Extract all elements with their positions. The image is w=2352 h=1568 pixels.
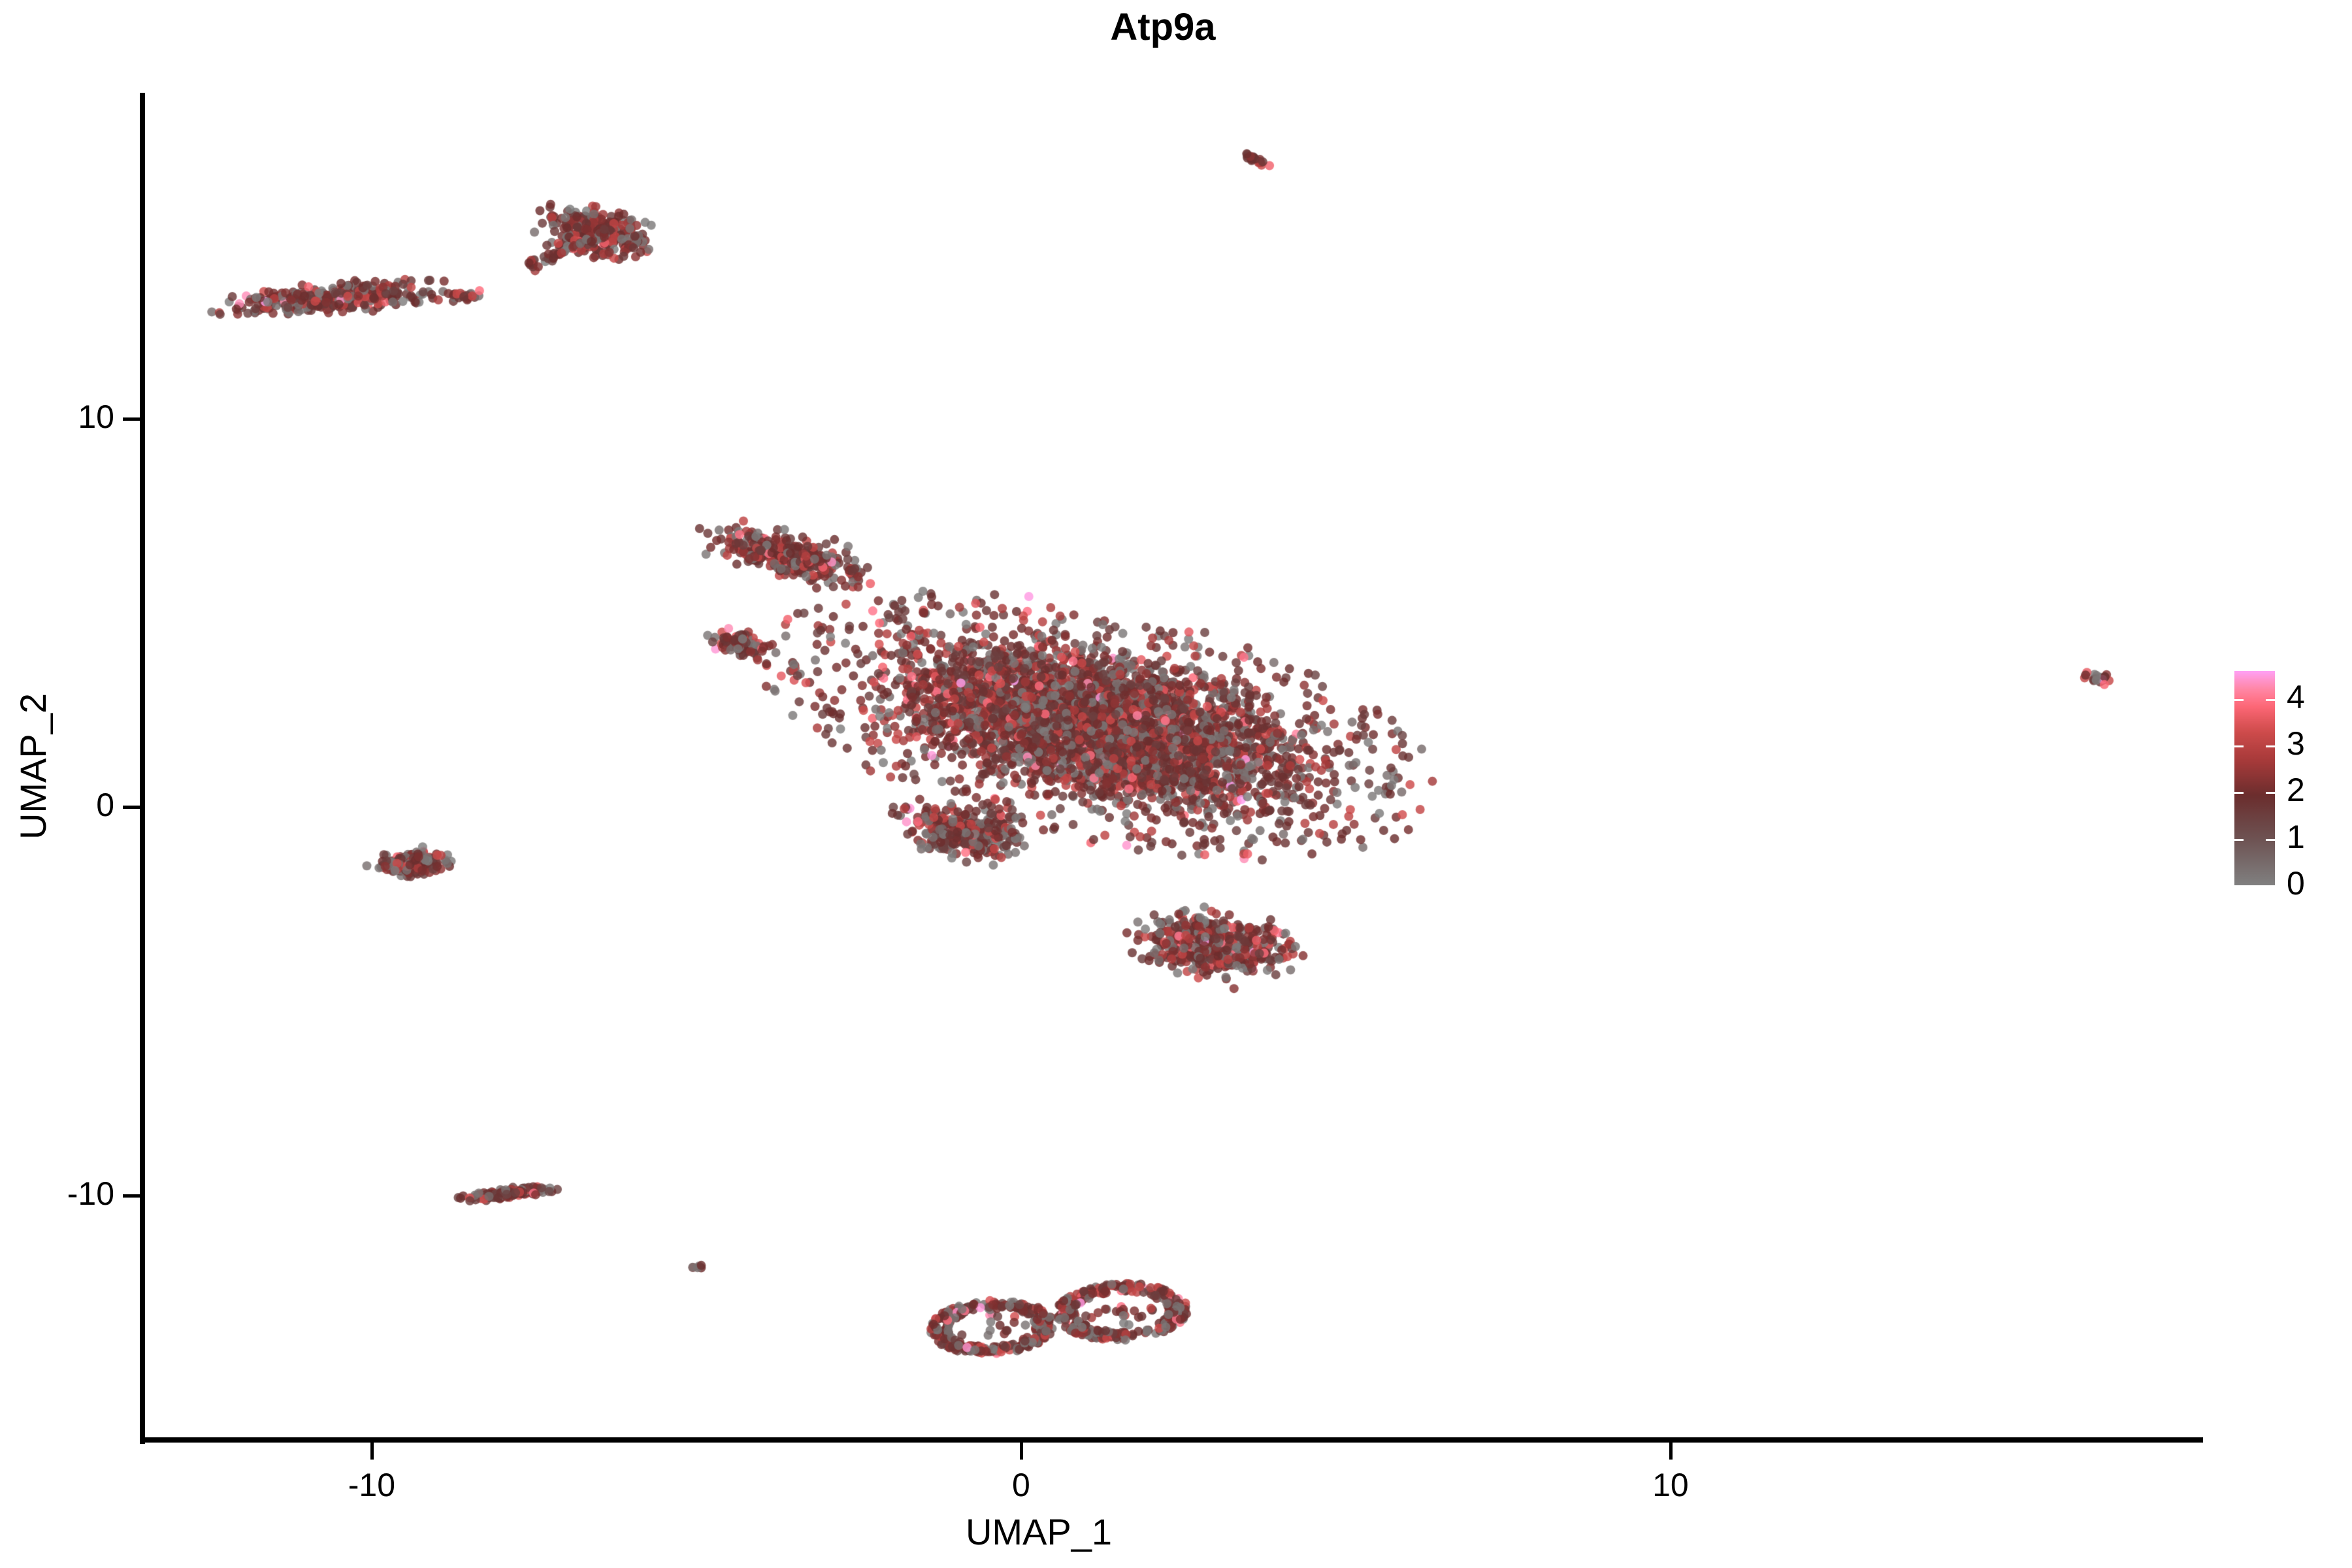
- y-axis-line: [140, 93, 145, 1444]
- y-tick-10: [123, 417, 140, 421]
- colorbar-label-4: 4: [2287, 681, 2305, 713]
- y-tick--10: [123, 1194, 140, 1198]
- scatter-canvas: [144, 93, 2203, 1440]
- x-tick--10: [370, 1443, 374, 1460]
- y-tick-label--10: -10: [0, 1175, 114, 1213]
- y-tick-0: [123, 806, 140, 809]
- y-tick-label-10: 10: [0, 398, 114, 436]
- x-tick-0: [1020, 1443, 1023, 1460]
- x-tick-10: [1669, 1443, 1673, 1460]
- colorbar-tick-0: [2266, 885, 2275, 887]
- colorbar-label-1: 1: [2287, 821, 2305, 853]
- colorbar-tick-4: [2234, 699, 2244, 701]
- colorbar-tick-0: [2234, 885, 2244, 887]
- x-tick-label-0: 0: [956, 1466, 1086, 1504]
- feature-plot-root: Atp9a -10010 100-10 UMAP_1 UMAP_2 43210: [0, 0, 2352, 1568]
- colorbar-tick-3: [2266, 745, 2275, 747]
- colorbar-label-0: 0: [2287, 867, 2305, 900]
- colorbar-tick-2: [2234, 792, 2244, 794]
- colorbar-gradient: [2234, 671, 2275, 885]
- colorbar-label-2: 2: [2287, 774, 2305, 806]
- colorbar-tick-1: [2234, 839, 2244, 841]
- page-title: Atp9a: [0, 5, 2339, 49]
- x-tick-label--10: -10: [306, 1466, 437, 1504]
- y-axis-title: UMAP_2: [12, 693, 54, 840]
- colorbar-tick-2: [2266, 792, 2275, 794]
- colorbar-tick-1: [2266, 839, 2275, 841]
- colorbar-tick-4: [2266, 699, 2275, 701]
- colorbar-label-3: 3: [2287, 727, 2305, 760]
- colorbar-tick-3: [2234, 745, 2244, 747]
- x-axis-line: [140, 1437, 2203, 1443]
- x-axis-title: UMAP_1: [908, 1511, 1169, 1553]
- plot-panel: [144, 93, 2203, 1440]
- x-tick-label-10: 10: [1605, 1466, 1736, 1504]
